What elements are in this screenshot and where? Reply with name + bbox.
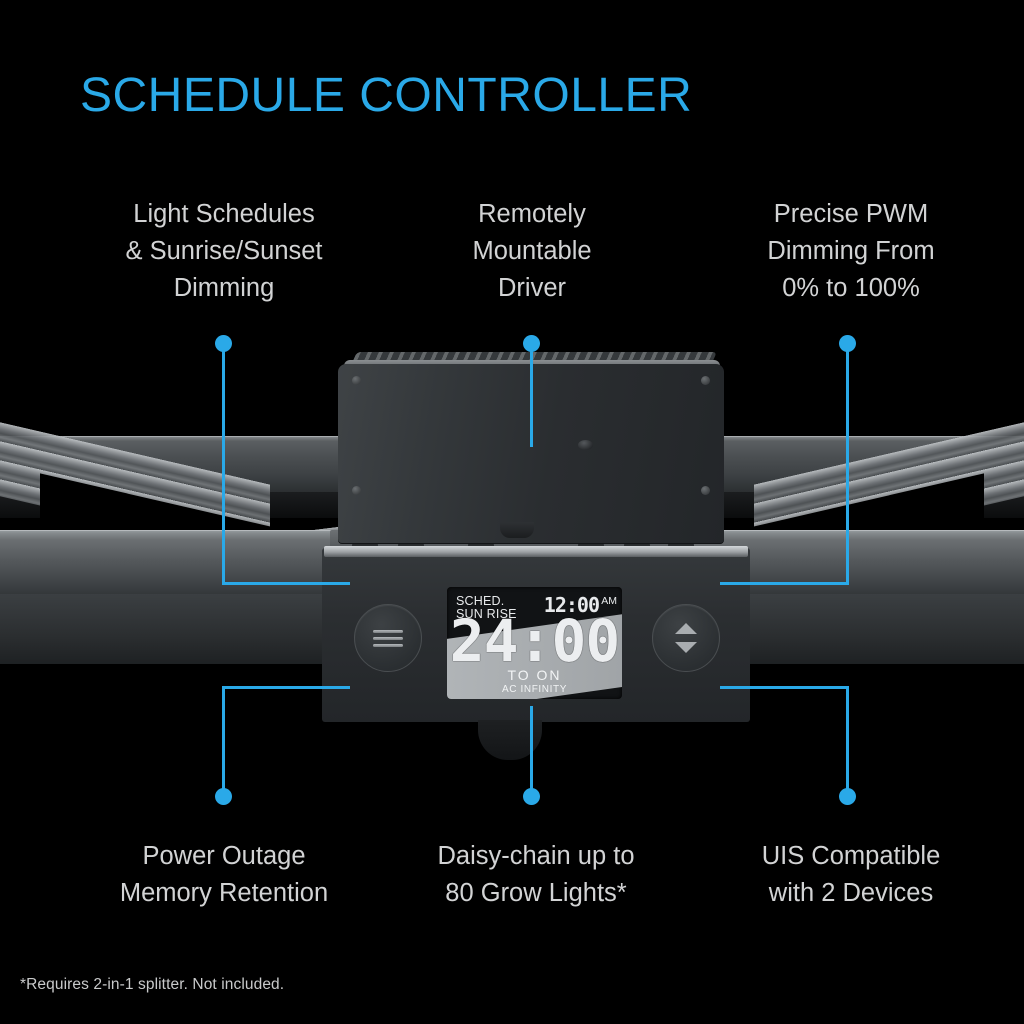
lcd-countdown: 24:00 (450, 612, 620, 670)
callout-line-top-left (222, 343, 225, 585)
callout-line-bottom-left (222, 686, 225, 796)
callout-label-pwm-dimming: Precise PWM Dimming From 0% to 100% (706, 196, 996, 307)
controller-top-lip (324, 546, 748, 557)
callout-label-daisy-chain: Daisy-chain up to 80 Grow Lights* (390, 838, 682, 912)
up-down-button[interactable] (652, 604, 720, 672)
callout-line-bottom-right (720, 686, 849, 689)
lcd-display: SCHED. SUN RISE 12:00 AM 24:00 TO ON AC … (447, 587, 622, 699)
callout-line-bottom-left (222, 686, 350, 689)
driver-screw (352, 376, 361, 385)
lcd-brand: AC INFINITY (502, 684, 567, 695)
driver-cable-nub (500, 522, 534, 538)
product-photo: SCHED. SUN RISE 12:00 AM 24:00 TO ON AC … (0, 412, 1024, 760)
callout-label-remote-driver: Remotely Mountable Driver (392, 196, 672, 307)
callout-dot-bottom-right (839, 788, 856, 805)
menu-button[interactable] (354, 604, 422, 672)
driver-screw (701, 486, 710, 495)
arrow-up-icon[interactable] (675, 623, 697, 634)
callout-label-uis-compatible: UIS Compatible with 2 Devices (706, 838, 996, 912)
callout-dot-bottom-left (215, 788, 232, 805)
lcd-status: TO ON (507, 667, 561, 683)
hamburger-icon (373, 644, 403, 647)
callout-label-light-schedules: Light Schedules & Sunrise/Sunset Dimming (80, 196, 368, 307)
driver-port (578, 440, 593, 450)
callout-dot-bottom-center (523, 788, 540, 805)
callout-line-top-left (222, 582, 350, 585)
callout-line-bottom-right (846, 686, 849, 796)
hamburger-icon (373, 637, 403, 640)
callout-line-top-right (846, 343, 849, 585)
driver-screw (352, 486, 361, 495)
footnote: *Requires 2-in-1 splitter. Not included. (20, 976, 284, 994)
callout-line-top-right (720, 582, 849, 585)
callout-line-top-center (530, 343, 533, 447)
driver-screw (701, 376, 710, 385)
callout-line-bottom-center (530, 706, 533, 796)
infographic-canvas: SCHEDULE CONTROLLER (0, 0, 1024, 1024)
callout-label-memory-retention: Power Outage Memory Retention (76, 838, 372, 912)
page-title: SCHEDULE CONTROLLER (80, 72, 692, 120)
hamburger-icon (373, 630, 403, 633)
lcd-meridiem: AM (601, 595, 617, 607)
arrow-down-icon[interactable] (675, 642, 697, 653)
